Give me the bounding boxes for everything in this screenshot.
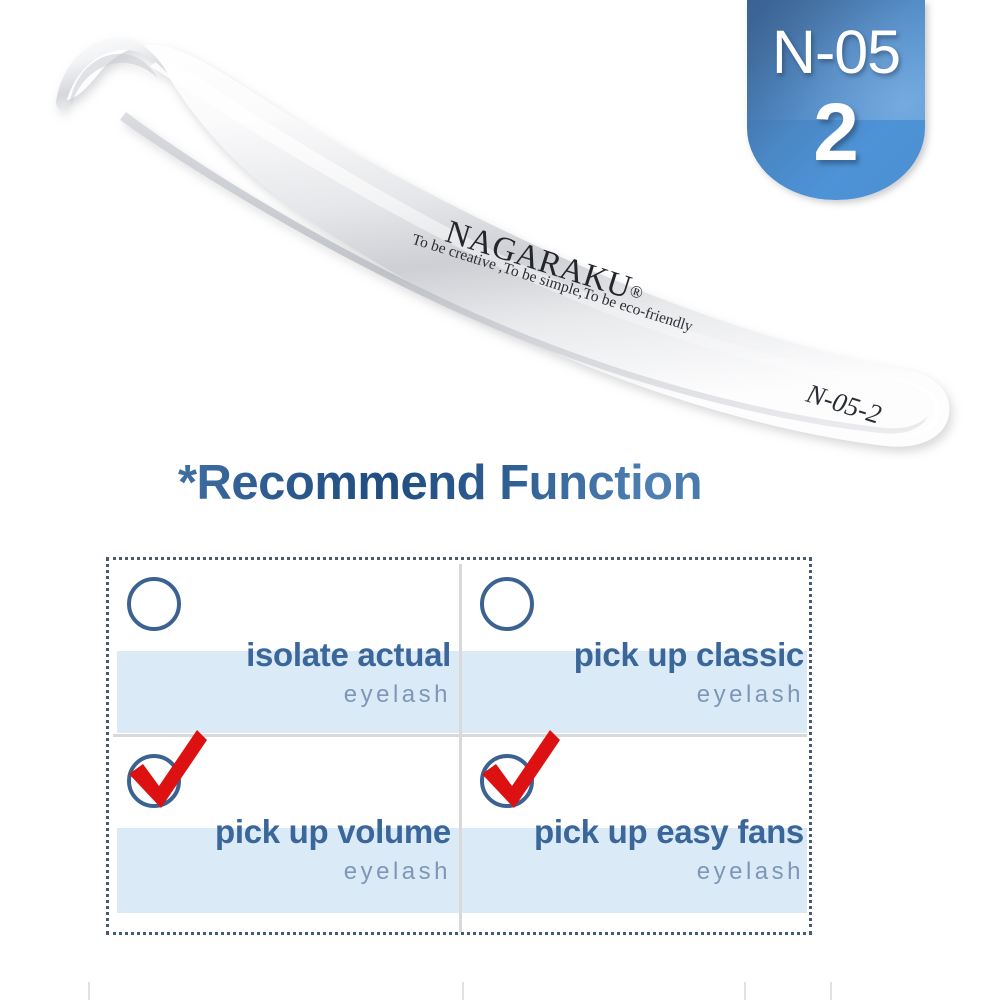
feature-cell-isolate-actual: isolate actual eyelash <box>109 560 459 737</box>
table-tick <box>830 982 832 1000</box>
feature-cell-pick-up-easy-fans: pick up easy fans eyelash <box>462 737 812 914</box>
model-badge: N-05 2 <box>747 0 925 200</box>
feature-subtitle: eyelash <box>109 681 451 709</box>
feature-subtitle: eyelash <box>462 681 804 709</box>
checkbox-pick-up-easy-fans[interactable] <box>480 754 542 816</box>
table-tick <box>88 982 90 1000</box>
recommend-function-grid: isolate actual eyelash pick up classic e… <box>106 557 812 935</box>
page-title: *Recommend Function <box>0 455 880 511</box>
feature-title: pick up classic <box>462 636 804 674</box>
table-tick <box>462 982 464 1000</box>
feature-cell-pick-up-volume: pick up volume eyelash <box>109 737 459 914</box>
checkmark-icon <box>121 728 213 820</box>
badge-model-code: N-05 <box>747 22 925 83</box>
feature-title: pick up easy fans <box>462 813 804 851</box>
checkmark-icon <box>474 728 566 820</box>
circle-icon <box>480 577 534 631</box>
circle-icon <box>127 577 181 631</box>
badge-model-number: 2 <box>747 92 925 174</box>
table-tick <box>744 982 746 1000</box>
feature-subtitle: eyelash <box>462 858 804 886</box>
checkbox-isolate-actual[interactable] <box>127 577 189 639</box>
feature-title: isolate actual <box>109 636 451 674</box>
feature-subtitle: eyelash <box>109 858 451 886</box>
feature-title: pick up volume <box>109 813 451 851</box>
checkbox-pick-up-classic[interactable] <box>480 577 542 639</box>
checkbox-pick-up-volume[interactable] <box>127 754 189 816</box>
feature-cell-pick-up-classic: pick up classic eyelash <box>462 560 812 737</box>
